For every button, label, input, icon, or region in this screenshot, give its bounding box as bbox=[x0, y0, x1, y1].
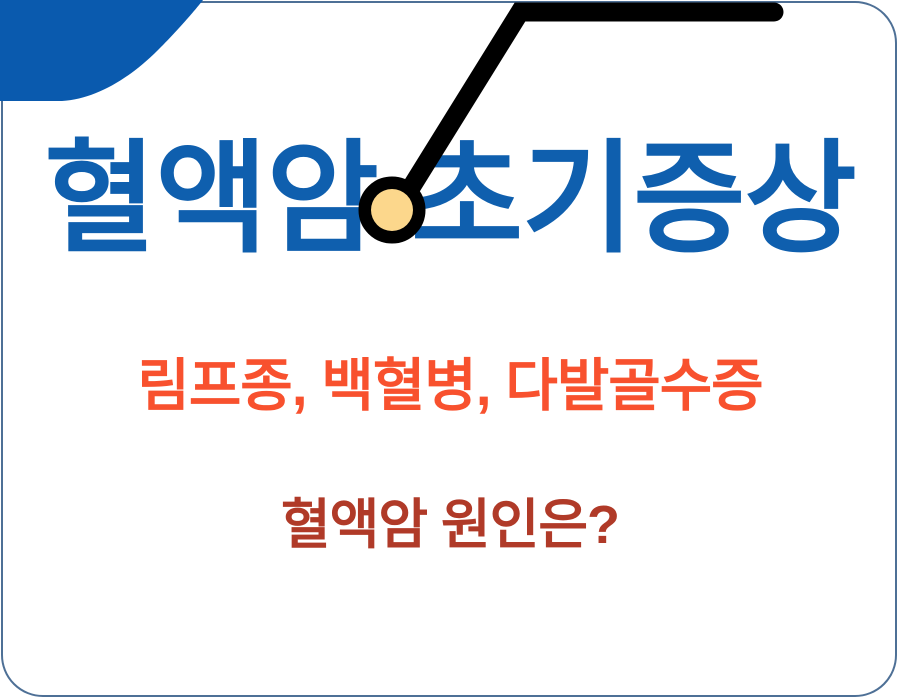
page-title: 혈액암 초기증상 bbox=[0, 138, 900, 260]
thumbnail-card: 혈액암 초기증상 림프종, 백혈병, 다발골수증 혈액암 원인은? bbox=[0, 0, 900, 700]
subtitle-secondary: 혈액암 원인은? bbox=[0, 498, 900, 552]
card-content: 혈액암 초기증상 림프종, 백혈병, 다발골수증 혈액암 원인은? bbox=[0, 0, 900, 700]
subtitle-primary: 림프종, 백혈병, 다발골수증 bbox=[0, 358, 900, 415]
